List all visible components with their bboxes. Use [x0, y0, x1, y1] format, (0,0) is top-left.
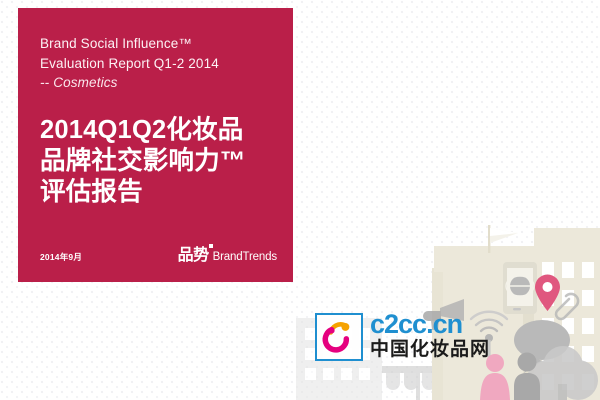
english-title-line-2: Evaluation Report Q1-2 2014 [40, 54, 271, 74]
chinese-title-line-1: 2014Q1Q2化妆品 [40, 115, 271, 146]
smartphone-globe-icon [503, 262, 537, 314]
c2cc-watermark-text: c2cc.cn 中国化妆品网 [370, 311, 490, 361]
speech-bubble-icon [514, 320, 570, 373]
map-pin-icon [535, 275, 560, 312]
english-title-block: Brand Social Influence™ Evaluation Repor… [40, 34, 271, 93]
chinese-title-line-3: 评估报告 [40, 177, 271, 208]
brandtrends-logo: 品势 BrandTrends [178, 248, 277, 264]
presentation-slide: Brand Social Influence™ Evaluation Repor… [0, 0, 600, 400]
english-title-line-1: Brand Social Influence™ [40, 34, 271, 54]
english-subtitle-cosmetics: -- Cosmetics [40, 73, 271, 93]
publication-date: 2014年9月 [40, 251, 82, 264]
chinese-title-block: 2014Q1Q2化妆品 品牌社交影响力™ 评估报告 [40, 115, 271, 208]
title-panel: Brand Social Influence™ Evaluation Repor… [18, 8, 293, 282]
c2cc-watermark: c2cc.cn 中国化妆品网 [315, 313, 490, 361]
paperclip-icon [556, 294, 578, 319]
c2cc-chinese-text: 中国化妆品网 [370, 339, 490, 361]
market-stall-icon [382, 366, 456, 400]
c2cc-domain-text: c2cc.cn [370, 311, 490, 338]
brand-chinese-name: 品势 [178, 248, 209, 264]
c2cc-logo-mark [315, 313, 363, 361]
panel-footer: 2014年9月 品势 BrandTrends [40, 248, 277, 264]
male-figure-icon [514, 353, 540, 400]
square-mark-icon [209, 244, 213, 248]
tree-icon [526, 346, 598, 400]
office-building-icon [523, 228, 600, 400]
brand-english-name: BrandTrends [213, 251, 277, 264]
chinese-title-line-2: 品牌社交影响力™ [40, 146, 271, 177]
